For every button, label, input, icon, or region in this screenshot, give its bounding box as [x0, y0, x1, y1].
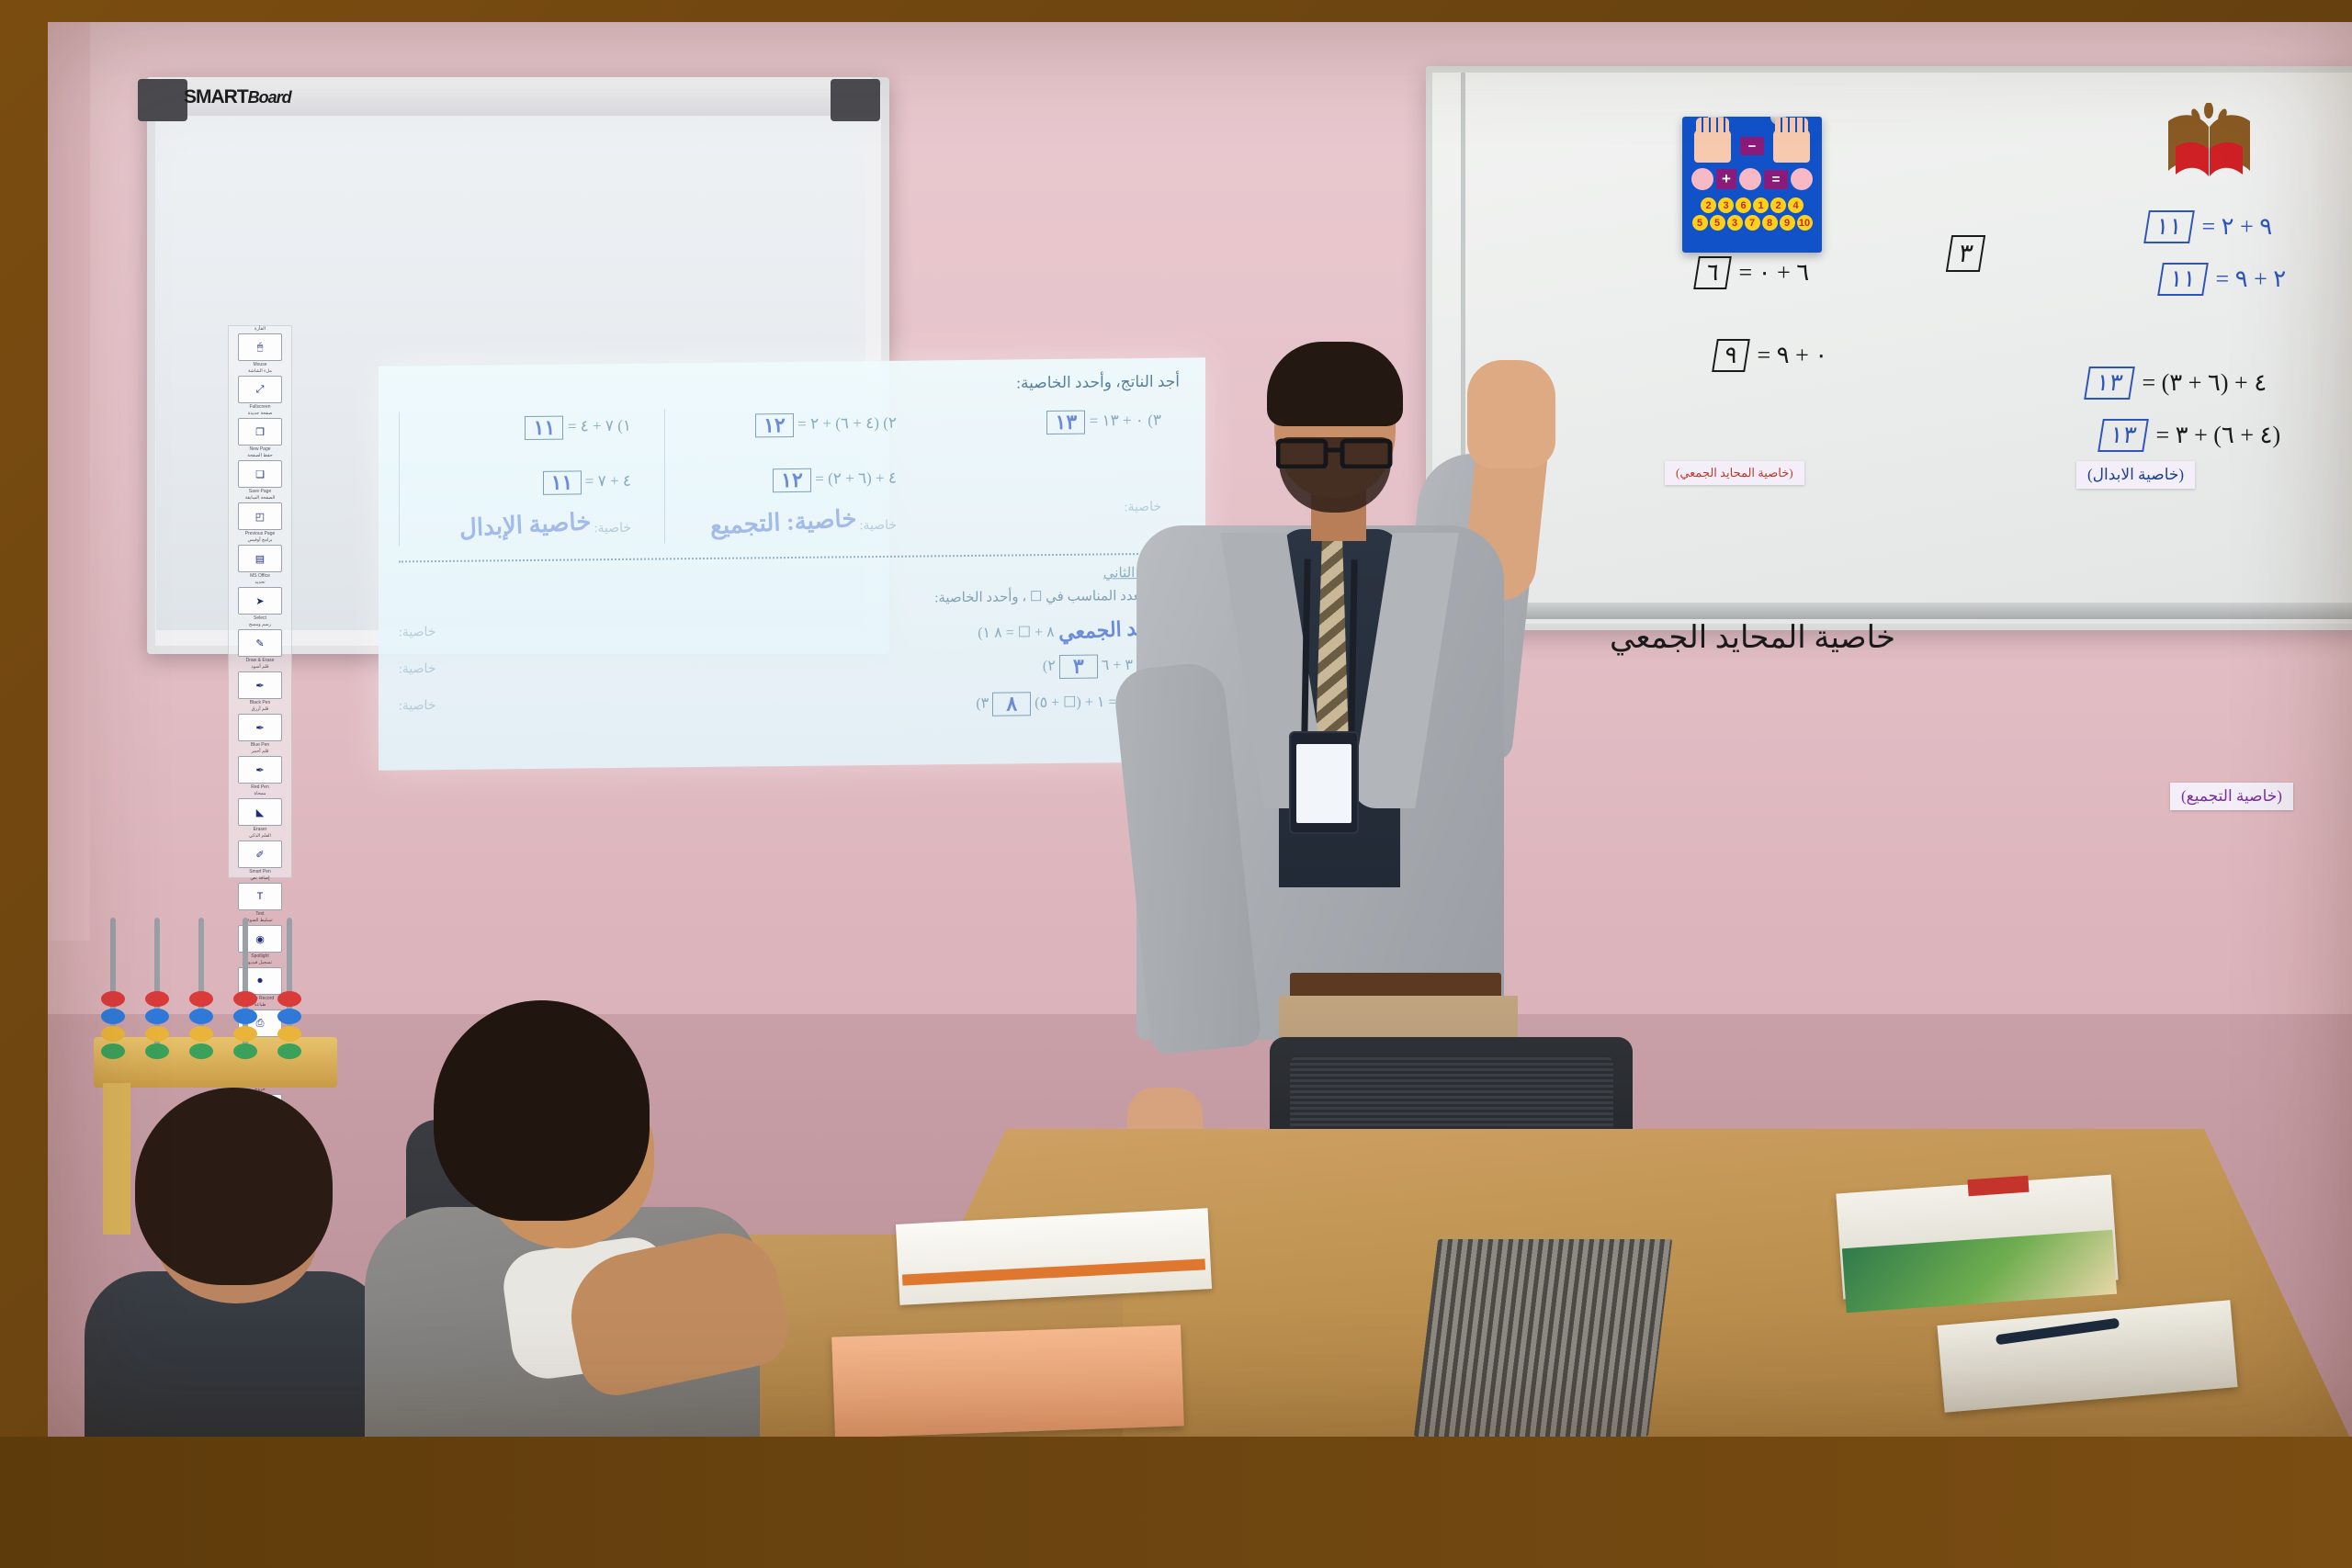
- fullscreen-icon[interactable]: ⤢: [238, 376, 282, 403]
- mouse-icon[interactable]: 🖱: [238, 333, 282, 361]
- smartboard-cap-left: [138, 79, 187, 121]
- q1-expr-2: (٤ + ٦) + ٢ =: [797, 414, 879, 433]
- flower-icon-1: [1691, 168, 1713, 190]
- toolbar-label-save-page-icon: Save Page: [229, 489, 291, 494]
- wb-tag-commutative: (خاصية الابدال): [2076, 461, 2195, 489]
- wb-eq6-text: (٤ + ٦) + ٣ =: [2155, 422, 2280, 448]
- toolbar-caption-eraser-icon: ممحاة: [229, 791, 291, 796]
- poster-number-row-2: 55378910: [1682, 214, 1822, 231]
- teacher-id-badge: [1289, 731, 1359, 834]
- abacus-bead: [277, 1043, 301, 1059]
- q1-answer-1b: ١١: [543, 470, 582, 494]
- teacher-lanyard: [1301, 559, 1357, 739]
- wb-tag-additive-identity: (خاصية المحايد الجمعي): [1665, 461, 1804, 485]
- toolbar-caption-draw-erase-icon: رسم ومسح: [229, 622, 291, 627]
- school-logo-icon: [2143, 103, 2276, 190]
- toolbar-caption-select-arrow-icon: تحديد: [229, 580, 291, 585]
- toolbar-label-black-pen-icon: Black Pen: [229, 700, 291, 705]
- eraser-icon[interactable]: ◣: [238, 798, 282, 826]
- wb-tag-associative: (خاصية التجميع): [2170, 783, 2293, 810]
- poster-number-5: 9: [1780, 215, 1795, 231]
- smart-pen-icon[interactable]: ✐: [238, 840, 282, 868]
- toolbar-label-mouse-icon: Mouse: [229, 362, 291, 367]
- toolbar-label-fullscreen-icon: Fullscreen: [229, 404, 291, 410]
- slide-question2-text: أكتب العدد المناسب في ☐ ، وأحدد الخاصية:: [399, 587, 1180, 613]
- toolbar-caption-new-page-icon: صفحة جديدة: [229, 411, 291, 416]
- slide-q2-row-3: خاصية: (١ + ٨) + ٥ = ١ + (☐ + ٥) ٨ ٣): [399, 691, 1185, 723]
- toolbar-label-eraser-icon: Eraser: [229, 827, 291, 832]
- poster-symbol-plus: +: [1716, 169, 1736, 189]
- toolbar-label-ms-office-icon: MS Office: [229, 573, 291, 579]
- new-page-icon[interactable]: ❐: [238, 418, 282, 446]
- blue-pen-icon[interactable]: ✒: [238, 714, 282, 741]
- abacus-bead: [277, 1009, 301, 1024]
- q2-num-3: ٣): [976, 695, 989, 711]
- table-cable-grommet: [1414, 1239, 1672, 1437]
- toolbar-caption-previous-page-icon: الصفحة السابقة: [229, 495, 291, 501]
- smartboard-cap-right: [831, 79, 880, 121]
- q2-answer-2: ٣: [1059, 655, 1098, 679]
- hand-left-icon: [1694, 130, 1731, 163]
- draw-erase-icon[interactable]: ✎: [238, 629, 282, 657]
- papers-stack: [896, 1208, 1212, 1305]
- abacus-leg: [103, 1083, 130, 1235]
- flower-icon-2: [1739, 168, 1761, 190]
- toolbar-caption-ms-office-icon: برامج أوفيس: [229, 537, 291, 543]
- q1-handwritten-ibdal: خاصية الإبدال: [458, 508, 592, 543]
- q1-answer-1: ١١: [525, 416, 563, 440]
- smartboard-brand-board: Board: [248, 88, 291, 107]
- slide-question2-heading: السؤال الثاني: [399, 564, 1180, 590]
- classroom-photo: SMARTBoard الفأرة🖱Mouseملء الشاشة⤢Fullsc…: [48, 22, 2352, 1437]
- abacus-bead: [101, 1009, 125, 1024]
- abacus-bead: [277, 991, 301, 1007]
- slide-q2-row-2: خاصية: ٦ + ☐ = ٣ + ٦ ٣ ٢): [399, 654, 1185, 686]
- toolbar-caption-blue-pen-icon: قلم أزرق: [229, 706, 291, 712]
- abacus-bead: [145, 1043, 169, 1059]
- slide-divider: [399, 553, 1185, 563]
- q2-prop-label-2: خاصية:: [399, 661, 435, 677]
- poster-number-5: 4: [1788, 197, 1804, 213]
- poster-symbol-equals: =: [1764, 170, 1788, 189]
- abacus-bead: [189, 1009, 213, 1024]
- abacus-bead: [233, 1026, 257, 1042]
- toolbar-label-draw-erase-icon: Draw & Erase: [229, 658, 291, 663]
- abacus-bead: [145, 991, 169, 1007]
- slide-question1-heading: أجد الناتج، وأحدد الخاصية:: [399, 373, 1180, 400]
- abacus-bead: [233, 991, 257, 1007]
- eyeglasses-icon: [1276, 437, 1394, 468]
- abacus-bead: [233, 1043, 257, 1059]
- q1-prop-label-2: خاصية:: [860, 519, 897, 533]
- q2-num-2: ٢): [1043, 659, 1056, 674]
- ms-office-icon[interactable]: ▤: [238, 545, 282, 572]
- q1-answer-2b: ١٢: [773, 468, 811, 492]
- poster-symbol-minus: −: [1740, 137, 1764, 155]
- toolbar-label-red-pen-icon: Red Pen: [229, 784, 291, 790]
- q1-answer-3: ١٣: [1046, 411, 1085, 434]
- select-arrow-icon[interactable]: ➤: [238, 587, 282, 615]
- wb-title-additive-identity: خاصية المحايد الجمعي: [1610, 619, 1895, 656]
- poster-number-0: 5: [1692, 215, 1708, 231]
- wb-eq1-text: ٦ + ٠ =: [1738, 259, 1809, 286]
- wb-eq3-answer: ١١: [2143, 210, 2195, 243]
- q2-expr-1: ٨ + ☐ = ٨: [994, 625, 1055, 641]
- q1-num-3: ٣): [1148, 412, 1161, 429]
- teacher-raised-hand: [1467, 360, 1555, 468]
- toolbar-label-select-arrow-icon: Select: [229, 615, 291, 621]
- poster-number-2: 6: [1736, 197, 1751, 213]
- toolbar-label-text-icon: Text: [229, 911, 291, 917]
- q1-expr-1: ٧ + ٤ =: [568, 417, 614, 435]
- slide-q1-col-1: ١) ٧ + ٤ = ١١ ٤ + ٧ = ١١ خاصية: خاصية ال…: [399, 410, 640, 547]
- poster-number-0: 2: [1701, 197, 1716, 213]
- toolbar-label-new-page-icon: New Page: [229, 446, 291, 452]
- poster-number-1: 3: [1718, 197, 1734, 213]
- wb-eq5-text: ٤ + (٦ + ٣) =: [2142, 369, 2267, 396]
- abacus-base: [94, 1037, 337, 1088]
- toolbar-caption-save-page-icon: حفظ الصفحة: [229, 453, 291, 458]
- abacus-bead: [101, 1043, 125, 1059]
- smartboard-brand: SMARTBoard: [184, 86, 291, 108]
- abacus-bead: [145, 1009, 169, 1024]
- toolbar-caption-spotlight-icon: تسليط الضوء: [229, 918, 291, 923]
- toolbar-caption-text-icon: إضافة نص: [229, 875, 291, 881]
- q2-prop-label-3: خاصية:: [399, 698, 435, 714]
- q1-prop-label-3: خاصية:: [1125, 501, 1161, 514]
- caption-bar: حصة نموذجية لمادة الرياضيات للصف الثالث …: [0, 1437, 2352, 1568]
- abacus-bead: [277, 1026, 301, 1042]
- wb-eq6-answer: ١٣: [2098, 419, 2149, 452]
- toolbar-caption-smart-pen-icon: القلم الذكي: [229, 833, 291, 839]
- q1-expr-3: ٠ + ١٣ =: [1090, 412, 1144, 430]
- wb-eq4-answer: ١١: [2157, 263, 2209, 296]
- q2-prop-label-1: خاصية:: [399, 625, 435, 640]
- wb-eq1-answer: ٦: [1693, 256, 1732, 289]
- toolbar-label-blue-pen-icon: Blue Pen: [229, 742, 291, 748]
- abacus-bead: [101, 1026, 125, 1042]
- text-icon[interactable]: T: [238, 883, 282, 910]
- black-pen-icon[interactable]: ✒: [238, 671, 282, 699]
- wall-left-edge: [48, 22, 90, 941]
- toolbar-caption-video-record-icon: تسجيل فيديو: [229, 960, 291, 965]
- wb-equation-4: ٢ + ٩ = ١١: [2156, 263, 2286, 296]
- wb-equation-2: ٠ + ٩ = ٩: [1711, 339, 1827, 372]
- toolbar-caption-mouse-icon: الفأرة: [229, 326, 291, 332]
- projected-slide: أجد الناتج، وأحدد الخاصية: ١) ٧ + ٤ = ١١…: [379, 357, 1205, 770]
- wb-corner-number: ٣: [1946, 235, 1985, 272]
- poster-number-row-1: 236124: [1682, 194, 1822, 214]
- smartboard-brand-smart: SMART: [184, 86, 248, 107]
- q1-num-2: ٢): [883, 414, 897, 432]
- book-front-orange: [831, 1325, 1184, 1437]
- toolbar-caption-fullscreen-icon: ملء الشاشة: [229, 368, 291, 374]
- smartboard-toolbar[interactable]: الفأرة🖱Mouseملء الشاشة⤢Fullscreenصفحة جد…: [228, 325, 292, 878]
- q2-answer-3: ٨: [992, 692, 1031, 716]
- slide-q2-row-1: خاصية: المحايد الجمعي ٨ + ☐ = ٨ ١): [399, 617, 1185, 649]
- wb-eq4-text: ٢ + ٩ =: [2215, 265, 2286, 292]
- wb-eq2-answer: ٩: [1712, 339, 1750, 372]
- wb-eq5-answer: ١٣: [2084, 367, 2135, 400]
- student-1-head: [135, 1088, 333, 1285]
- wb-equation-5: ٤ + (٦ + ٣) = ١٣: [2083, 367, 2267, 400]
- wb-equation-1: ٦ + ٠ = ٦: [1692, 256, 1809, 289]
- student-2-head: [434, 1000, 650, 1221]
- flower-icon-3: [1791, 168, 1813, 190]
- slide-q1-col-2: ٢) (٤ + ٦) + ٢ = ١٢ ٤ + (٦ + ٢) = ١٢ خاص…: [664, 407, 906, 544]
- q1-prop-label-1: خاصية:: [594, 522, 631, 536]
- abacus-bead: [189, 991, 213, 1007]
- hand-right-icon: [1773, 130, 1810, 163]
- toolbar-label-previous-page-icon: Previous Page: [229, 531, 291, 536]
- poster-number-3: 7: [1745, 215, 1760, 231]
- q1-num-1: ١): [617, 417, 631, 434]
- toolbar-caption-black-pen-icon: قلم أسود: [229, 664, 291, 670]
- q1-handwritten-tajmee: خاصية: التجميع: [709, 505, 857, 541]
- abacus-bead: [145, 1026, 169, 1042]
- q2-num-1: ١): [978, 626, 990, 641]
- poster-number-2: 3: [1727, 215, 1743, 231]
- poster-number-3: 1: [1753, 197, 1769, 213]
- previous-page-icon[interactable]: ◰: [238, 502, 282, 530]
- teacher-hair: [1267, 342, 1403, 426]
- whiteboard-marker-tray: [1426, 603, 2352, 619]
- save-page-icon[interactable]: ❏: [238, 460, 282, 488]
- wb-equation-6: (٤ + ٦) + ٣ = ١٣: [2097, 419, 2280, 452]
- red-pen-icon[interactable]: ✒: [238, 756, 282, 784]
- abacus-bead: [189, 1026, 213, 1042]
- toolbar-label-spotlight-icon: Spotlight: [229, 953, 291, 959]
- wb-equation-3: ٩ + ٢ = ١١: [2143, 210, 2272, 243]
- toolbar-caption-red-pen-icon: قلم أحمر: [229, 749, 291, 754]
- photo-canvas: SMARTBoard الفأرة🖱Mouseملء الشاشة⤢Fullsc…: [0, 0, 2352, 1568]
- abacus-bead: [233, 1009, 257, 1024]
- poster-number-1: 5: [1710, 215, 1725, 231]
- abacus-bead: [189, 1043, 213, 1059]
- abacus-bead: [101, 991, 125, 1007]
- slide-q1-col-3: ٣) ٠ + ١٣ = ١٣ خاصية:: [930, 404, 1170, 524]
- wb-eq3-text: ٩ + ٢ =: [2201, 213, 2272, 240]
- poster-number-4: 8: [1762, 215, 1778, 231]
- math-symbols-poster: − + = 236124 55378910: [1682, 117, 1822, 253]
- wb-eq2-text: ٠ + ٩ =: [1757, 342, 1827, 368]
- q1-expr-2b: ٤ + (٦ + ٢) =: [815, 469, 897, 488]
- poster-number-6: 10: [1797, 215, 1813, 231]
- q1-answer-2: ١٢: [755, 413, 794, 437]
- toolbar-label-smart-pen-icon: Smart Pen: [229, 869, 291, 874]
- q1-expr-1b: ٤ + ٧ =: [585, 472, 631, 491]
- poster-number-4: 2: [1770, 197, 1786, 213]
